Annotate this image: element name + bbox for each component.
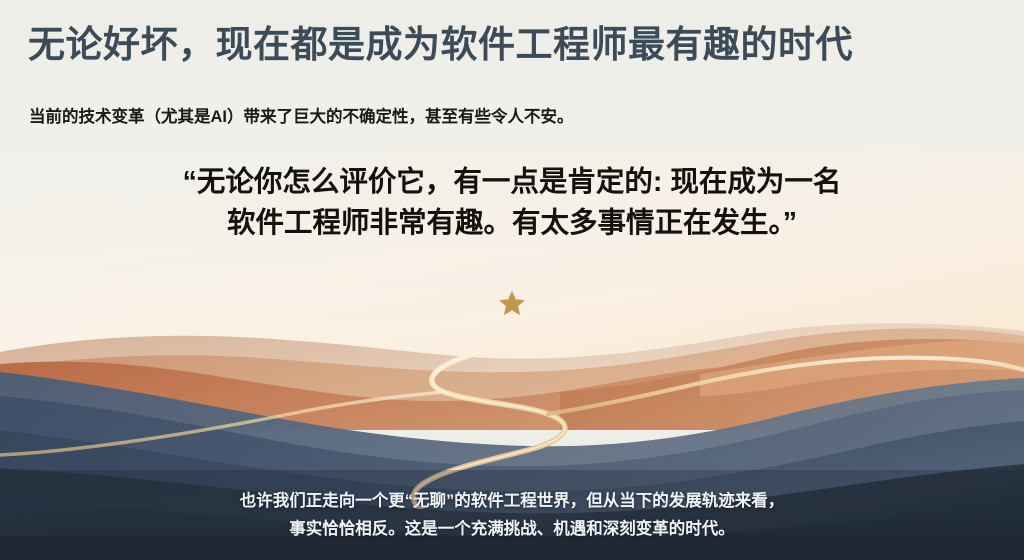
- page-subtitle: 当前的技术变革（尤其是AI）带来了巨大的不确定性，甚至有些令人不安。: [29, 104, 574, 130]
- quote-line-1: “无论你怎么评价它，有一点是肯定的: 现在成为一名: [0, 162, 1024, 203]
- page-title: 无论好坏，现在都是成为软件工程师最有趣的时代: [28, 21, 853, 69]
- caption-line-1: 也许我们正走向一个更“无聊”的软件工程世界，但从当下的发展轨迹来看，: [0, 487, 1024, 515]
- quote-line-2: 软件工程师非常有趣。有太多事情正在发生。”: [0, 203, 1024, 244]
- star-icon: [497, 289, 527, 318]
- caption-line-2: 事实恰恰相反。这是一个充满挑战、机遇和深刻变革的时代。: [0, 515, 1024, 543]
- pull-quote: “无论你怎么评价它，有一点是肯定的: 现在成为一名 软件工程师非常有趣。有太多事…: [0, 162, 1024, 244]
- section-divider: [0, 289, 1024, 318]
- footer-caption: 也许我们正走向一个更“无聊”的软件工程世界，但从当下的发展轨迹来看， 事实恰恰相…: [0, 487, 1024, 543]
- slide-canvas: 无论好坏，现在都是成为软件工程师最有趣的时代 当前的技术变革（尤其是AI）带来了…: [0, 0, 1024, 560]
